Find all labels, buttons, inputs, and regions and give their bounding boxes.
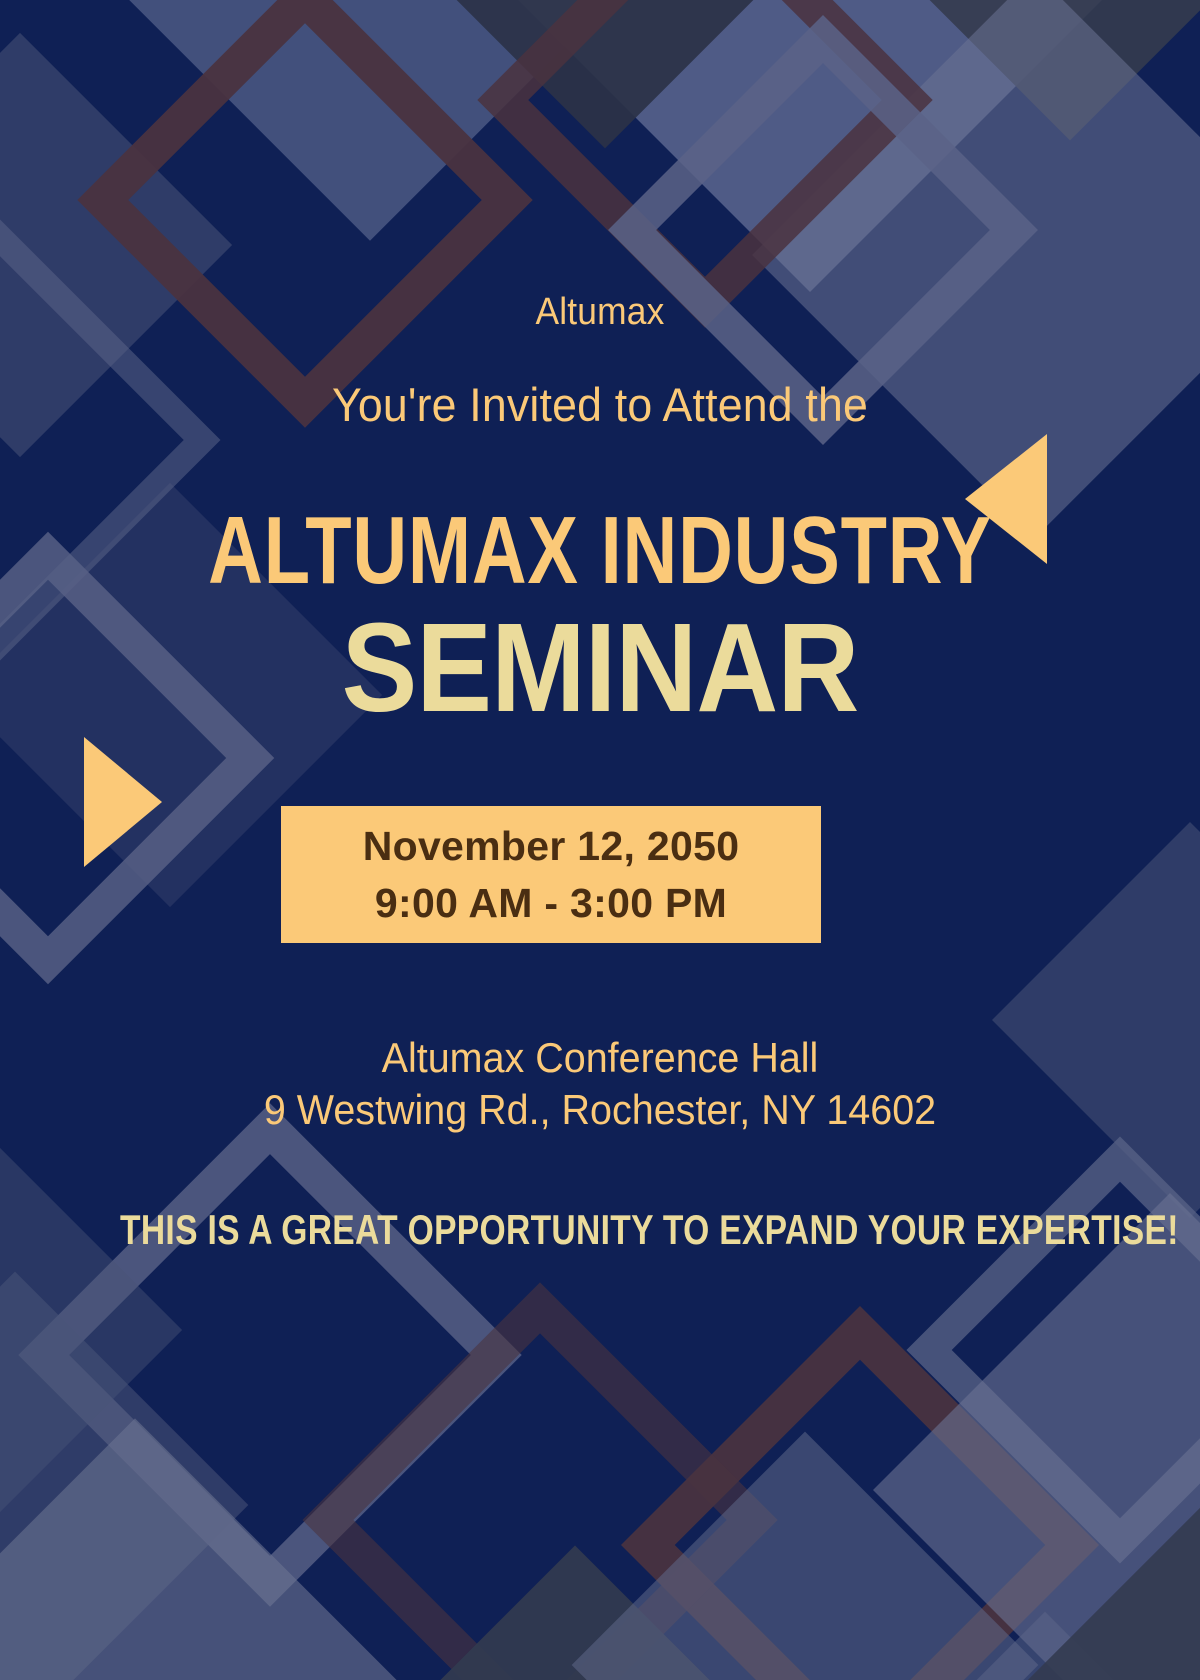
closing-tagline: THIS IS A GREAT OPPORTUNITY TO EXPAND YO… (120, 1205, 1080, 1255)
event-title-line-2: SEMINAR (60, 600, 1140, 736)
event-title-line-1: ALTUMAX INDUSTRY (126, 499, 1074, 603)
invitation-poster: Altumax You're Invited to Attend the ALT… (0, 0, 1200, 1680)
venue-name: Altumax Conference Hall (36, 1032, 1164, 1084)
datetime-badge: November 12, 2050 9:00 AM - 3:00 PM (281, 806, 821, 943)
event-date: November 12, 2050 (363, 818, 740, 875)
poster-content: Altumax You're Invited to Attend the ALT… (0, 0, 1200, 1680)
event-time: 9:00 AM - 3:00 PM (375, 875, 727, 932)
host-name: Altumax (42, 289, 1158, 335)
invitation-subtitle: You're Invited to Attend the (30, 376, 1170, 434)
venue-address: 9 Westwing Rd., Rochester, NY 14602 (36, 1084, 1164, 1136)
